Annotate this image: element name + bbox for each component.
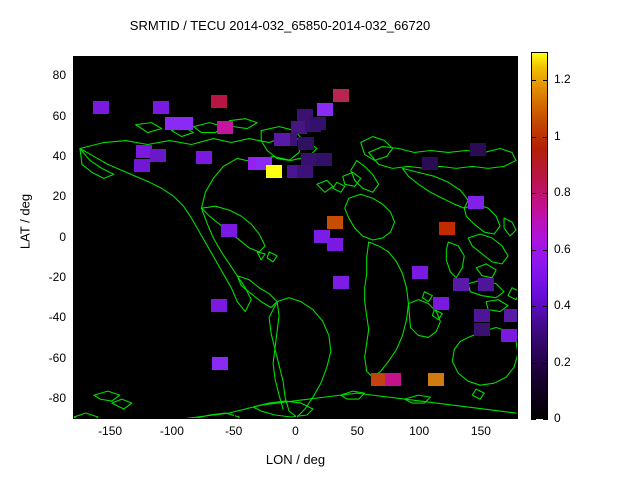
data-marker [211, 299, 227, 312]
data-marker [327, 216, 343, 229]
data-marker [453, 278, 469, 291]
colorbar-tick-mark [531, 250, 536, 251]
data-marker [212, 357, 228, 370]
figure-canvas: SRMTID / TECU 2014-032_65850-2014-032_66… [0, 0, 640, 480]
plot-area[interactable] [73, 56, 518, 419]
y-tick-label: -80 [26, 391, 66, 405]
y-tick-mark [74, 197, 79, 198]
page-title: SRMTID / TECU 2014-032_65850-2014-032_66… [0, 18, 560, 33]
colorbar-tick-label: 1.2 [554, 72, 571, 86]
y-tick-mark [74, 318, 79, 319]
data-marker [266, 165, 282, 178]
data-marker [196, 151, 212, 164]
data-marker [134, 159, 150, 172]
colorbar-tick-mark [543, 363, 548, 364]
data-marker [177, 117, 193, 130]
colorbar-tick-mark [543, 193, 548, 194]
x-tick-label: 150 [451, 424, 511, 438]
data-marker [217, 121, 233, 134]
colorbar-tick-label: 1 [554, 129, 561, 143]
colorbar[interactable] [531, 52, 548, 419]
colorbar-tick-mark [543, 419, 548, 420]
colorbar-tick-mark [531, 363, 536, 364]
data-marker [474, 309, 490, 322]
data-marker [501, 329, 517, 342]
data-marker [221, 224, 237, 237]
y-axis-title: LAT / deg [18, 152, 33, 292]
colorbar-tick-mark [543, 137, 548, 138]
x-tick-mark [419, 414, 420, 419]
data-marker [433, 297, 449, 310]
data-marker [468, 196, 484, 209]
x-tick-mark [234, 414, 235, 419]
colorbar-tick-label: 0.4 [554, 298, 571, 312]
x-tick-mark [357, 414, 358, 419]
y-tick-label: 60 [26, 109, 66, 123]
x-tick-mark [296, 414, 297, 419]
y-tick-mark [74, 157, 79, 158]
data-marker [153, 101, 169, 114]
data-marker [327, 238, 343, 251]
data-marker [385, 373, 401, 386]
colorbar-tick-label: 0.2 [554, 355, 571, 369]
y-tick-label: -60 [26, 351, 66, 365]
colorbar-tick-label: 0.6 [554, 242, 571, 256]
data-marker [316, 153, 332, 166]
y-tick-mark [74, 399, 79, 400]
data-marker-layer [74, 57, 517, 418]
x-tick-mark [172, 414, 173, 419]
x-tick-mark [110, 414, 111, 419]
data-marker [428, 373, 444, 386]
colorbar-tick-mark [543, 80, 548, 81]
y-tick-mark [74, 238, 79, 239]
y-tick-mark [74, 76, 79, 77]
x-axis-title: LON / deg [73, 452, 518, 467]
data-marker [422, 157, 438, 170]
x-tick-label: 100 [389, 424, 449, 438]
data-marker [317, 103, 333, 116]
y-tick-mark [74, 359, 79, 360]
y-tick-label: 80 [26, 68, 66, 82]
colorbar-tick-mark [531, 193, 536, 194]
colorbar-tick-label: 0.8 [554, 185, 571, 199]
data-marker [474, 323, 490, 336]
x-tick-label: 0 [266, 424, 326, 438]
y-tick-mark [74, 278, 79, 279]
x-tick-label: -50 [204, 424, 264, 438]
data-marker [298, 137, 314, 150]
colorbar-tick-label: 0 [554, 411, 561, 425]
data-marker [470, 143, 486, 156]
colorbar-tick-mark [531, 137, 536, 138]
data-marker [150, 149, 166, 162]
data-marker [504, 309, 517, 322]
colorbar-tick-mark [543, 306, 548, 307]
y-tick-mark [74, 117, 79, 118]
data-marker [478, 278, 494, 291]
data-marker [439, 222, 455, 235]
x-tick-mark [481, 414, 482, 419]
colorbar-tick-mark [531, 419, 536, 420]
x-tick-label: 50 [327, 424, 387, 438]
data-marker [310, 117, 326, 130]
data-marker [93, 101, 109, 114]
colorbar-tick-mark [531, 306, 536, 307]
colorbar-tick-mark [531, 80, 536, 81]
x-tick-label: -150 [80, 424, 140, 438]
data-marker [333, 89, 349, 102]
data-marker [301, 153, 317, 166]
y-tick-label: -40 [26, 310, 66, 324]
x-tick-label: -100 [142, 424, 202, 438]
data-marker [211, 95, 227, 108]
data-marker [412, 266, 428, 279]
data-marker [297, 165, 313, 178]
data-marker [274, 133, 290, 146]
colorbar-tick-mark [543, 250, 548, 251]
data-marker [333, 276, 349, 289]
